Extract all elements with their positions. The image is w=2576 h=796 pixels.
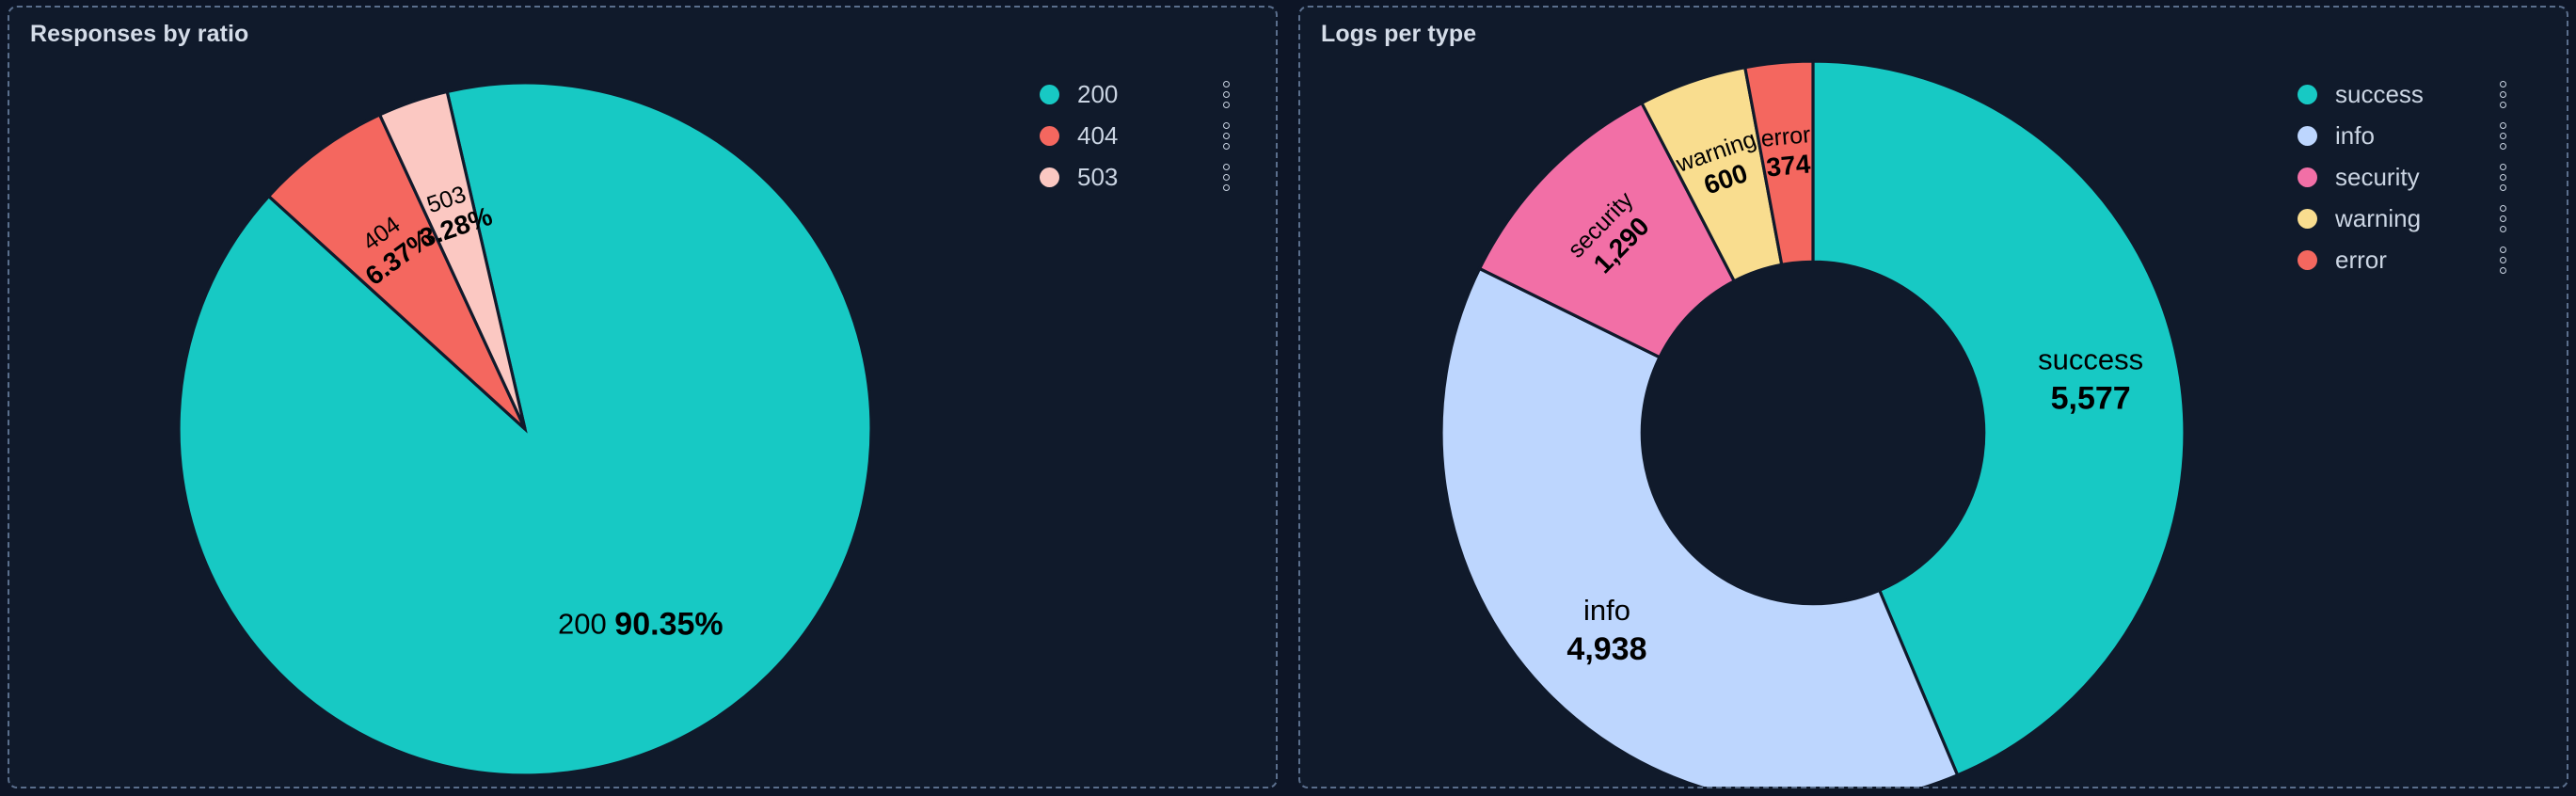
legend-color-dot	[1040, 85, 1059, 104]
pie-slice-info[interactable]	[1441, 268, 1958, 788]
slice-label-text: success5,577	[2038, 343, 2143, 417]
legend-color-dot	[2298, 209, 2317, 229]
legend-item-200[interactable]: 200	[1040, 73, 1237, 115]
panel-body-responses: 200 90.35%4046.37%5033.28% 200404503	[9, 8, 1276, 787]
legend-logs: successinfosecuritywarningerror	[2298, 73, 2514, 280]
vertical-three-dot-icon[interactable]	[2491, 247, 2514, 274]
legend-color-dot	[2298, 250, 2317, 270]
panel-body-logs: success5,577info4,938security1,290warnin…	[1300, 8, 2567, 787]
page-title-responses: Responses by ratio	[30, 21, 248, 48]
legend-item-info[interactable]: info	[2298, 115, 2514, 156]
vertical-three-dot-icon[interactable]	[2491, 205, 2514, 232]
legend-item-label: error	[2335, 246, 2387, 275]
vertical-three-dot-icon[interactable]	[1215, 164, 1237, 191]
legend-responses: 200404503	[1040, 73, 1237, 198]
slice-label-success: success5,577	[2038, 343, 2143, 417]
legend-item-404[interactable]: 404	[1040, 115, 1237, 156]
legend-item-label: 200	[1077, 80, 1118, 109]
legend-item-success[interactable]: success	[2298, 73, 2514, 115]
legend-color-dot	[2298, 167, 2317, 187]
legend-color-dot	[1040, 126, 1059, 146]
vertical-three-dot-icon[interactable]	[2491, 164, 2514, 191]
vertical-three-dot-icon[interactable]	[1215, 81, 1237, 108]
legend-item-label: info	[2335, 121, 2375, 151]
page-title-logs: Logs per type	[1321, 21, 1476, 48]
legend-item-label: success	[2335, 80, 2424, 109]
vertical-three-dot-icon[interactable]	[1215, 122, 1237, 150]
legend-color-dot	[2298, 126, 2317, 146]
legend-color-dot	[2298, 85, 2317, 104]
legend-item-label: security	[2335, 163, 2420, 192]
legend-color-dot	[1040, 167, 1059, 187]
dashboard: Responses by ratio 200 90.35%4046.37%503…	[0, 0, 2576, 796]
legend-item-warning[interactable]: warning	[2298, 198, 2514, 239]
panel-responses-by-ratio: Responses by ratio 200 90.35%4046.37%503…	[8, 6, 1278, 788]
legend-item-label: 503	[1077, 163, 1118, 192]
legend-item-security[interactable]: security	[2298, 156, 2514, 198]
legend-item-503[interactable]: 503	[1040, 156, 1237, 198]
vertical-three-dot-icon[interactable]	[2491, 122, 2514, 150]
donut-chart-logs: success5,577info4,938security1,290warnin…	[1300, 8, 2298, 788]
slice-label-200: 200 90.35%	[558, 607, 724, 643]
legend-item-error[interactable]: error	[2298, 239, 2514, 280]
legend-item-label: warning	[2335, 204, 2421, 233]
slice-label-text: 200 90.35%	[558, 607, 724, 643]
legend-item-label: 404	[1077, 121, 1118, 151]
pie-chart-responses: 200 90.35%4046.37%5033.28%	[9, 8, 1007, 788]
panel-logs-per-type: Logs per type success5,577info4,938secur…	[1298, 6, 2568, 788]
vertical-three-dot-icon[interactable]	[2491, 81, 2514, 108]
